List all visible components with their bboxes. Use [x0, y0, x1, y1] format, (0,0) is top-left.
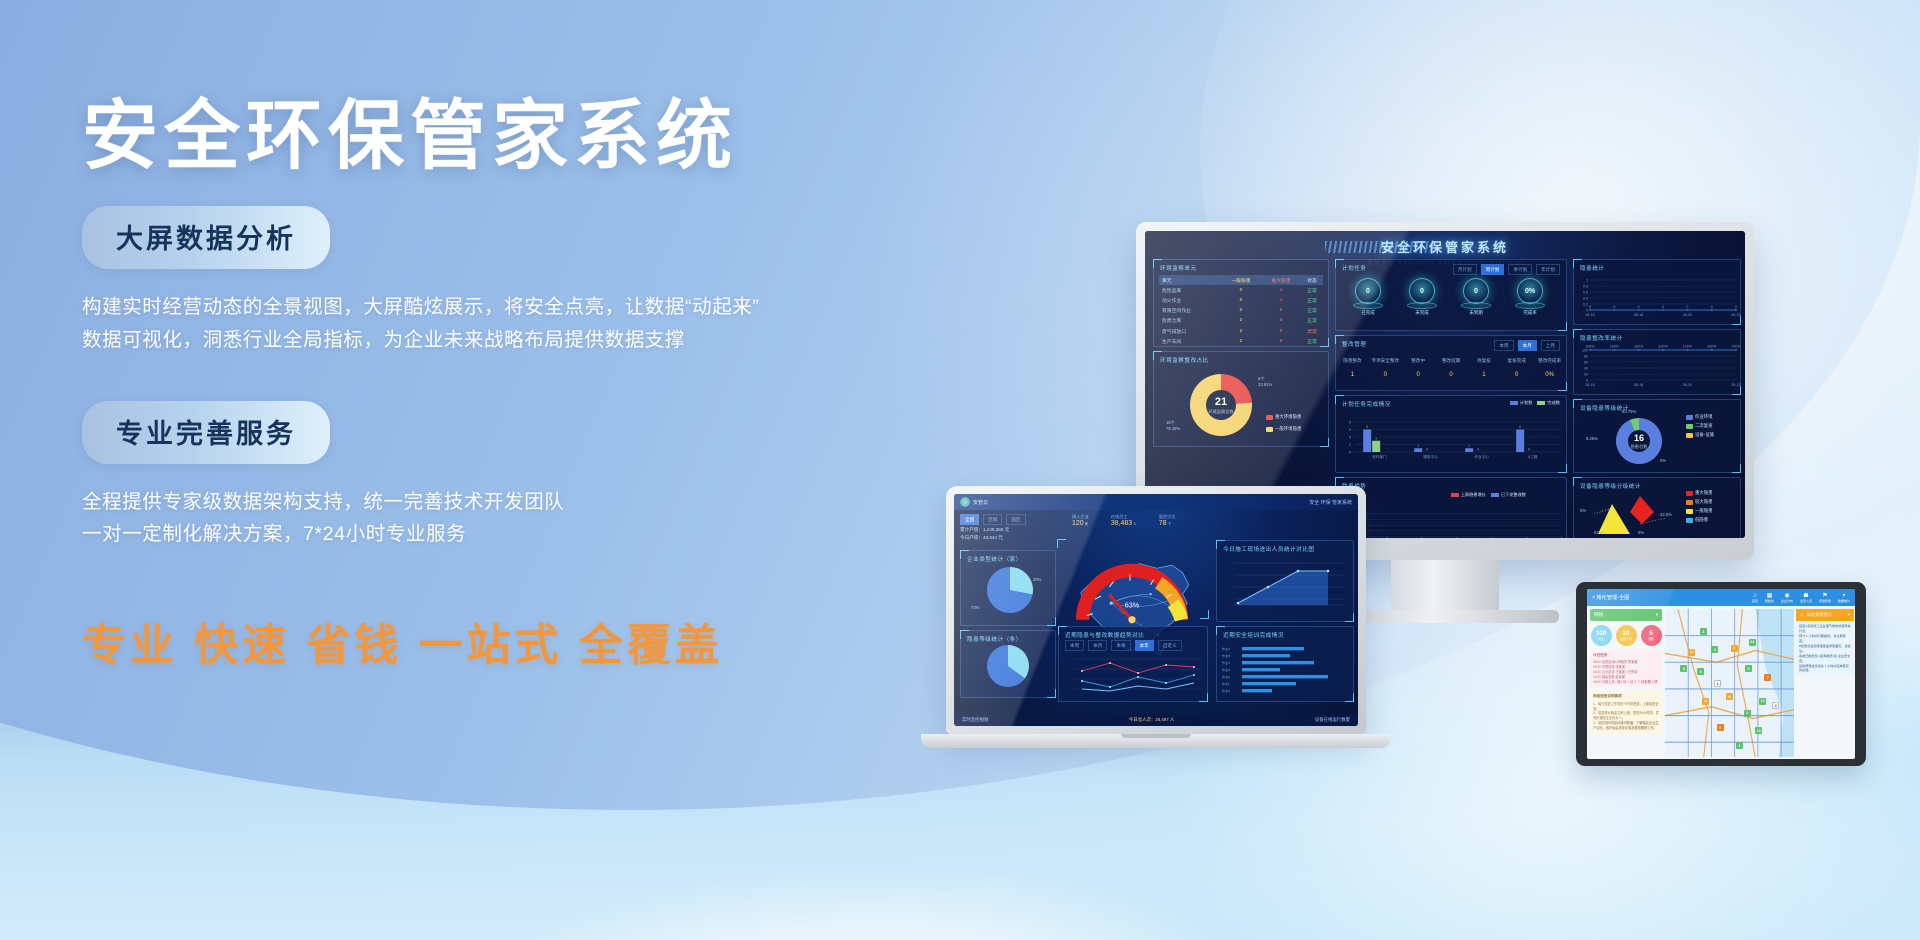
- pct-recheck: 6.25%: [1586, 436, 1598, 441]
- nav-label: 巡查人员: [1800, 600, 1812, 603]
- card-lines: 1、每日巡查工作须在十时前完成，上报巡查记录；2、发现重大隐患立即上报，须在24…: [1593, 702, 1659, 731]
- pct-work-env: 93.75%: [1622, 409, 1636, 414]
- legend-completed: 完成数: [1537, 400, 1560, 406]
- panel-environment-units: 环境监察单元 单元 一般隐患 重大隐患 状态 危险品库 0 1 正常动火作业 0…: [1153, 259, 1329, 347]
- grid-marker[interactable]: 1: [1736, 742, 1743, 749]
- indicator-base: [1515, 302, 1545, 309]
- cell-major: 0: [1261, 316, 1301, 326]
- indicator-label: 完成率: [1508, 310, 1552, 316]
- footer-right: 设备在线运行数量: [1315, 717, 1350, 723]
- grid-marker[interactable]: 2: [1744, 710, 1751, 717]
- text-line: 预计 1 小时内可能超标，请立即核查；: [1799, 634, 1851, 644]
- laptop-panel-training: 近期安全培训完成情况 作业A作业B作业C: [1216, 626, 1354, 702]
- legend-minor-hazard: 一般环境隐患: [1266, 426, 1301, 432]
- cell-minor: 0: [1221, 295, 1261, 305]
- legend-issued: 已下发整改数: [1491, 492, 1526, 498]
- cell-unit: 废气排放口: [1159, 326, 1221, 336]
- grid-marker[interactable]: 12: [1726, 693, 1733, 700]
- cell-minor: 0: [1221, 285, 1261, 295]
- alert-icon[interactable]: ⚑风险预警: [1819, 593, 1831, 603]
- text-line: 园区A东侧化工企业废气排放浓度异常升高，: [1799, 624, 1851, 634]
- panel-rectify-management: 整改管理 本周本月上月 隐患整改专项安全整改整改中整改延期待复核复核完成整改完成…: [1335, 335, 1567, 391]
- svg-text:6: 6: [1349, 428, 1351, 432]
- svg-text:1: 1: [1586, 278, 1588, 282]
- svg-text:0.2: 0.2: [1583, 302, 1588, 306]
- donut-chart-rectification: 21 环境监察总数: [1190, 374, 1252, 436]
- legend-低隐患: 低隐患: [1686, 517, 1708, 523]
- bubble-label: 企业: [1598, 637, 1604, 641]
- panel-task-completion-chart: 计划任务完成情况 计划数 完成数 0246863安环部门10服务中心10作业中心…: [1335, 395, 1567, 473]
- bubble-value: 10: [1622, 630, 1629, 637]
- panel-planned-tasks: 计划任务 月计划周计划季计划年计划 0 已完成0 未完成0 未到期0% 完成率: [1335, 259, 1567, 331]
- svg-text:3: 3: [1375, 436, 1377, 440]
- svg-text:2: 2: [1349, 443, 1351, 447]
- indicator-value: 0: [1463, 278, 1489, 304]
- laptop-base: [921, 734, 1391, 748]
- task-indicator-未到期: 0 未到期: [1454, 278, 1498, 316]
- donut-center: 21 环境监察总数: [1206, 390, 1236, 420]
- rectify-col-5: 复核完成: [1500, 358, 1533, 364]
- rectify-col-2: 整改中: [1402, 358, 1435, 364]
- donut-center-label: 环境监察总数: [1208, 409, 1233, 415]
- donut-center-value: 21: [1215, 396, 1227, 408]
- svg-text:0: 0: [1711, 305, 1713, 309]
- donut-chart-device: 16 隐患总数: [1616, 418, 1662, 464]
- stat-value: 78 个: [1159, 520, 1176, 527]
- svg-text:100%: 100%: [1658, 345, 1668, 349]
- panel-title: 环境监察整改占比: [1154, 352, 1328, 364]
- tab-本季[interactable]: 本季: [1111, 640, 1130, 651]
- bubble-label: 巡查人员: [1620, 637, 1631, 641]
- svg-text:8: 8: [1349, 421, 1351, 425]
- svg-text:A工程: A工程: [1528, 454, 1538, 459]
- text-line: 系统已推送至 A区网格员 和 企业安全员；: [1799, 654, 1851, 664]
- tablet-header: × 格化管理-全图 ⌂首页▦网格化◉企业分布☗巡查人员⚑风险预警◓数据统计: [1587, 589, 1855, 606]
- dashboard-title: 安全环保管家系统: [1145, 237, 1745, 256]
- donut-center-value: 16: [1634, 433, 1644, 443]
- pct-level-major: 32.6%: [1660, 512, 1672, 517]
- panel-title: 环境监察单元: [1154, 260, 1328, 272]
- svg-text:05-16: 05-16: [1585, 383, 1594, 387]
- svg-text:0: 0: [1491, 537, 1493, 538]
- table-row: 有限空间作业 0 2 正常: [1159, 306, 1323, 316]
- svg-text:05-22: 05-22: [1731, 313, 1740, 317]
- svg-text:80: 80: [1584, 354, 1588, 358]
- legend-设备-设施: 设备-设施: [1686, 432, 1714, 438]
- text-line: 3、值班期间须保持通讯畅通，了解辖区企业生产动态，做好隐患排查记录及整改跟踪工作…: [1593, 721, 1659, 731]
- cell-unit: 危险品库: [1159, 285, 1221, 295]
- laptop-topbar: 安管云 安全 环保 管家系统: [954, 494, 1358, 510]
- card-lines: 08:00 巡查区域A 网格员 李某某09:30 专项检查 张某某10:30 企…: [1593, 660, 1659, 684]
- col-minor: 一般隐患: [1221, 275, 1261, 285]
- tab-本周[interactable]: 本周: [1065, 640, 1084, 651]
- alert-lines: 园区A东侧化工企业废气排放浓度异常升高，预计 1 小时内可能超标，请立即核查；B…: [1796, 621, 1854, 676]
- location-icon[interactable]: ◉企业分布: [1781, 593, 1793, 603]
- rectify-col-1: 专项安全整改: [1369, 358, 1402, 364]
- tab-区域[interactable]: 区域: [983, 514, 1002, 525]
- donut-pct-minor: 16个 76.19%: [1166, 420, 1180, 431]
- cell-unit: 动火作业: [1159, 295, 1221, 305]
- task-indicator-已完成: 0 已完成: [1346, 278, 1390, 316]
- svg-text:100%: 100%: [1707, 345, 1717, 349]
- svg-text:100%: 100%: [1683, 345, 1693, 349]
- grid-select[interactable]: 网格 ▾: [1590, 609, 1662, 621]
- grid-marker[interactable]: 10: [1755, 727, 1762, 734]
- svg-text:0: 0: [1561, 537, 1563, 538]
- cell-major: 0: [1261, 336, 1301, 346]
- svg-text:60: 60: [1584, 360, 1588, 364]
- trend-legend: 上周隐患增长 已下发整改数: [1451, 492, 1526, 498]
- svg-text:作业B: 作业B: [1222, 653, 1230, 658]
- svg-text:0.4: 0.4: [1583, 296, 1588, 300]
- indicator-value: 0: [1409, 278, 1435, 304]
- tab-本月[interactable]: 本月: [1518, 340, 1537, 351]
- laptop-trend-tabs[interactable]: 本周本月本季本年自定义: [1065, 640, 1182, 651]
- text-line: 1、每日巡查工作须在十时前完成，上报巡查记录；: [1593, 702, 1659, 712]
- kpi-total: 累计产值：1,248,366 元: [960, 526, 1009, 534]
- panel-device-hazard-level: 设备隐患等级统计 16 隐患总数 93.75% 6.25% 0% 作业环境二次复…: [1573, 399, 1741, 473]
- stat-value: 38,483 人: [1111, 520, 1137, 527]
- stat-bubble-企业: 100企业: [1591, 625, 1612, 646]
- legend-major-hazard: 重大环境隐患: [1266, 414, 1301, 420]
- tab-本年[interactable]: 本年: [1135, 640, 1154, 651]
- grid-marker[interactable]: 3: [1700, 628, 1707, 635]
- laptop-mockup: 安管云 安全 环保 管家系统 全国区域园区 累计产值：1,248,366 元 今…: [946, 486, 1366, 748]
- rectify-col-6: 整改完成率: [1533, 358, 1566, 364]
- panel-title: 设备隐患等级分级统计: [1574, 478, 1740, 490]
- rectify-col-3: 整改延期: [1435, 358, 1468, 364]
- task-period-tabs[interactable]: 月计划周计划季计划年计划: [1453, 264, 1560, 275]
- tab-本月[interactable]: 本月: [1088, 640, 1107, 651]
- grid-map[interactable]: 112814361957121113428101: [1665, 609, 1794, 757]
- rectify-val-0: 1: [1336, 372, 1369, 378]
- laptop-kpi-text: 累计产值：1,248,366 元 今日产值：48,844 元: [960, 526, 1009, 543]
- svg-text:0: 0: [1735, 305, 1737, 309]
- laptop-panel-trend: 近期隐患与整改数据趋势对比 本周本月本季本年自定义: [1058, 626, 1208, 702]
- svg-text:05-20: 05-20: [1683, 383, 1692, 387]
- svg-text:1: 1: [1417, 444, 1419, 448]
- indicator-base: [1461, 302, 1491, 309]
- svg-text:服务中心: 服务中心: [1423, 454, 1438, 459]
- legend-一般隐患: 一般隐患: [1686, 508, 1713, 514]
- svg-text:安环部门: 安环部门: [1372, 454, 1387, 459]
- multi-line-chart: [1062, 653, 1206, 697]
- stat-bubble-预警: 5预警: [1641, 625, 1662, 646]
- panel-rectify-rate: 隐患整改率统计 020406080100100%100%100%100%100%…: [1573, 329, 1741, 395]
- monitor-stand: [1391, 560, 1499, 612]
- duty-notes-card: 网格值班说明事项 1、每日巡查工作须在十时前完成，上报巡查记录；2、发现重大隐患…: [1590, 691, 1662, 733]
- grid-marker[interactable]: 9: [1680, 665, 1687, 672]
- hazard-trend-chart: 00.20.40.60.810000000000000005-1605-1805…: [1336, 506, 1568, 538]
- rectify-val-4: 1: [1467, 372, 1500, 378]
- bubble-label: 预警: [1648, 637, 1654, 641]
- task-indicator-完成率: 0% 完成率: [1508, 278, 1552, 316]
- task-bar-chart: 0246863安环部门10服务中心10作业中心60A工程: [1336, 408, 1568, 466]
- pct-level-low: 0%: [1580, 508, 1586, 513]
- grid-marker[interactable]: 7: [1764, 674, 1771, 681]
- panel-title: 近期隐患与整改数据趋势对比: [1059, 627, 1207, 639]
- panel-hazard-stat: 隐患统计 00.20.40.60.81000000005-1605-1805-2…: [1573, 259, 1741, 325]
- laptop-brand: 安管云: [973, 499, 988, 506]
- laptop-notch: [1121, 734, 1191, 738]
- table-row: 危废仓库 2 0 正常: [1159, 316, 1323, 326]
- panel-title: 近期安全培训完成情况: [1217, 627, 1353, 639]
- svg-text:100%: 100%: [1634, 345, 1644, 349]
- chart-icon[interactable]: ◓数据统计: [1838, 593, 1850, 603]
- rectify-rate-chart: 020406080100100%100%100%100%100%100%100%…: [1574, 342, 1742, 392]
- panel-hazard-level-pie: 设备隐患等级分级统计 0% 67.3% 0% 32.6% 重大隐患较大隐患一般隐…: [1573, 477, 1741, 538]
- table-row: 生产车间 2 0 正常: [1159, 336, 1323, 346]
- grid-marker[interactable]: 13: [1759, 698, 1766, 705]
- cell-unit: 有限空间作业: [1159, 306, 1221, 316]
- svg-text:0: 0: [1426, 448, 1428, 452]
- home-icon[interactable]: ⌂首页: [1752, 593, 1758, 603]
- bar-chart-legend: 计划数 完成数: [1510, 400, 1560, 406]
- stat-bubbles: 100企业10巡查人员5预警: [1590, 625, 1662, 646]
- grid-marker[interactable]: 8: [1731, 645, 1738, 652]
- tab-季计划[interactable]: 季计划: [1508, 264, 1532, 275]
- indicator-label: 未到期: [1454, 310, 1498, 316]
- laptop-lid: 安管云 安全 环保 管家系统 全国区域园区 累计产值：1,248,366 元 今…: [946, 486, 1366, 734]
- table-row: 危险品库 0 1 正常: [1159, 285, 1323, 295]
- alert-panel-header: ⚠ 风险预警提示 ▾: [1796, 609, 1854, 621]
- chevron-down-icon: ▾: [1656, 612, 1658, 618]
- tab-全国[interactable]: 全国: [960, 514, 979, 525]
- table-row: 废气排放口 2 0 异常: [1159, 326, 1323, 336]
- table-row: 动火作业 0 1 正常: [1159, 295, 1323, 305]
- pct-equipment: 0%: [1660, 458, 1666, 463]
- svg-text:0: 0: [1477, 448, 1479, 452]
- tab-年计划[interactable]: 年计划: [1536, 264, 1560, 275]
- cell-status: 正常: [1301, 306, 1323, 316]
- cell-major: 0: [1261, 326, 1301, 336]
- rectify-val-5: 0: [1500, 372, 1533, 378]
- svg-text:100%: 100%: [1610, 345, 1620, 349]
- nav-label: 企业分布: [1781, 600, 1793, 603]
- laptop-stat-group: 接入企业 120 家在线员工 38,483 人监控点位 78 个: [1072, 514, 1176, 527]
- units-table: 单元 一般隐患 重大隐患 状态 危险品库 0 1 正常动火作业 0 1 正常有限…: [1159, 275, 1323, 346]
- grid-marker[interactable]: 8: [1717, 724, 1724, 731]
- svg-text:作业G: 作业G: [1222, 688, 1231, 693]
- legend-作业环境: 作业环境: [1686, 414, 1713, 420]
- svg-text:0: 0: [1528, 448, 1530, 452]
- kpi-today: 今日产值：48,844 元: [960, 534, 1009, 542]
- svg-text:作业D: 作业D: [1222, 667, 1231, 672]
- svg-text:0: 0: [1686, 305, 1688, 309]
- svg-text:40: 40: [1584, 366, 1588, 370]
- text-line: 16:00 日报上传 / 格1 待 一区 2 个 待处理 2 项: [1593, 680, 1659, 685]
- bubble-value: 100: [1596, 630, 1607, 637]
- alert-icon: ⚠: [1800, 612, 1804, 618]
- laptop-panel-enterprise-type: 企业类型统计（家） 28% 72%: [960, 550, 1056, 626]
- svg-text:0: 0: [1586, 378, 1588, 382]
- donut-center: 16 隐患总数: [1628, 430, 1650, 452]
- stat-bubble-巡查人员: 10巡查人员: [1616, 625, 1637, 646]
- grid-marker[interactable]: 11: [1688, 649, 1695, 656]
- laptop-panel-area: 今日施工现场进出人员统计对比图: [1216, 540, 1354, 622]
- legend-重大隐患: 重大隐患: [1686, 490, 1713, 496]
- col-status: 状态: [1301, 275, 1323, 285]
- rectify-col-0: 隐患整改: [1336, 358, 1369, 364]
- panel-title: 设备隐患等级统计: [1574, 400, 1740, 412]
- laptop-scope-tabs[interactable]: 全国区域园区: [960, 514, 1026, 525]
- cell-unit: 生产车间: [1159, 336, 1221, 346]
- rectify-val-6: 0%: [1533, 372, 1566, 378]
- svg-text:0.6: 0.6: [1583, 290, 1588, 294]
- laptop-pie-2: [987, 645, 1029, 687]
- donut-pct-major: 5个 23.81%: [1258, 376, 1272, 387]
- nav-label: 首页: [1752, 600, 1758, 603]
- svg-text:0: 0: [1638, 305, 1640, 309]
- pct-level-big: 0%: [1638, 530, 1644, 535]
- svg-text:05-18: 05-18: [1634, 313, 1643, 317]
- panel-title: 隐患等级统计（条）: [961, 631, 1055, 643]
- svg-text:作业F: 作业F: [1222, 681, 1230, 686]
- svg-text:0: 0: [1456, 537, 1458, 538]
- device-mockups: 安全环保管家系统 智慧安全 Real-time Data Display Pla…: [0, 0, 1920, 940]
- cell-minor: 2: [1221, 316, 1261, 326]
- nav-label: 网格化: [1765, 600, 1774, 603]
- legend-较大隐患: 较大隐患: [1686, 499, 1713, 505]
- laptop-pie-1: [987, 567, 1033, 613]
- legend-二次复查: 二次复查: [1686, 423, 1713, 429]
- panel-rectification-ratio: 环境监察整改占比 21 环境监察总数 5个 23.81% 16: [1153, 351, 1329, 447]
- svg-text:作业E: 作业E: [1222, 674, 1230, 679]
- laptop-stat: 监控点位 78 个: [1159, 514, 1176, 527]
- card-title: 网格值班说明事项: [1593, 694, 1659, 699]
- chevron-down-icon: ▾: [1848, 612, 1850, 618]
- cell-major: 2: [1261, 306, 1301, 316]
- svg-text:20: 20: [1584, 372, 1588, 376]
- svg-text:0: 0: [1421, 537, 1423, 538]
- pct-level-general: 67.3%: [1594, 530, 1606, 535]
- svg-text:100%: 100%: [1585, 345, 1595, 349]
- rectify-values: 1000100%: [1336, 370, 1566, 378]
- grid-marker[interactable]: 6: [1697, 668, 1704, 675]
- map-grid-lines: [1665, 609, 1794, 757]
- svg-text:05-20: 05-20: [1683, 313, 1692, 317]
- stat-value: 120 家: [1072, 520, 1089, 527]
- cell-unit: 危废仓库: [1159, 316, 1221, 326]
- panel-title: 隐患统计: [1574, 260, 1740, 272]
- rectify-columns: 隐患整改专项安全整改整改中整改延期待复核复核完成整改完成率: [1336, 358, 1566, 364]
- laptop-stat: 接入企业 120 家: [1072, 514, 1089, 527]
- laptop-nav-right: 安全 环保 管家系统: [1309, 499, 1352, 506]
- tab-园区[interactable]: 园区: [1006, 514, 1025, 525]
- cell-major: 1: [1261, 295, 1301, 305]
- area-chart: [1220, 555, 1350, 613]
- tablet-screen: × 格化管理-全图 ⌂首页▦网格化◉企业分布☗巡查人员⚑风险预警◓数据统计 网格…: [1587, 589, 1855, 759]
- tablet-title: × 格化管理-全图: [1592, 594, 1629, 601]
- panel-title: 隐患整改率统计: [1574, 330, 1740, 342]
- panel-hazard-trend: 隐患趋势 上周隐患增长 已下发整改数 00.20.40.60.810000000…: [1335, 477, 1567, 538]
- footer-center: 今日总人次：25,487 人: [1129, 717, 1174, 723]
- rectify-col-4: 待复核: [1467, 358, 1500, 364]
- svg-text:05-16: 05-16: [1585, 313, 1594, 317]
- cell-status: 正常: [1301, 316, 1323, 326]
- grid-marker[interactable]: 5: [1745, 665, 1752, 672]
- hazard-stat-chart: 00.20.40.60.81000000005-1605-1805-2005-2…: [1574, 272, 1742, 322]
- svg-text:100: 100: [1582, 348, 1588, 352]
- table-header-row: 单元 一般隐患 重大隐患 状态: [1159, 275, 1323, 285]
- card-title: 今日任务: [1593, 653, 1659, 658]
- rectify-val-1: 0: [1369, 372, 1402, 378]
- task-indicator-未完成: 0 未完成: [1400, 278, 1444, 316]
- person-icon[interactable]: ☗巡查人员: [1800, 593, 1812, 603]
- grid-marker[interactable]: 11: [1702, 698, 1709, 705]
- legend-planned: 计划数: [1510, 400, 1533, 406]
- cell-minor: 2: [1221, 326, 1261, 336]
- grid-marker[interactable]: 2: [1711, 646, 1718, 653]
- rectify-val-3: 0: [1435, 372, 1468, 378]
- tab-周计划[interactable]: 周计划: [1481, 264, 1505, 275]
- rectify-val-2: 0: [1402, 372, 1435, 378]
- svg-text:05-22: 05-22: [1731, 383, 1740, 387]
- indicator-base: [1353, 302, 1383, 309]
- text-line: 2、发现重大隐患立即上报，须在24小时内、并同步通知企业负责人；: [1593, 711, 1659, 721]
- laptop-footer: 实时监控视频 今日总人次：25,487 人 设备在线运行数量: [954, 714, 1358, 726]
- gauge-value: 63%: [1125, 600, 1140, 609]
- grid-marker[interactable]: 1: [1714, 680, 1721, 687]
- svg-text:0: 0: [1586, 308, 1588, 312]
- grid-marker[interactable]: 14: [1749, 639, 1756, 646]
- cell-status: 正常: [1301, 295, 1323, 305]
- svg-text:4: 4: [1349, 436, 1351, 440]
- rectify-period-tabs[interactable]: 本周本月上月: [1494, 340, 1560, 351]
- nav-label: 风险预警: [1819, 600, 1831, 603]
- svg-text:05-18: 05-18: [1634, 383, 1643, 387]
- text-line: 最新预警信息请在 7 小时内完成核实并反馈。: [1799, 664, 1851, 674]
- svg-text:0.8: 0.8: [1583, 284, 1588, 288]
- svg-text:作业中心: 作业中心: [1474, 454, 1489, 459]
- safety-gauge: 63%: [1070, 556, 1194, 630]
- tab-本周[interactable]: 本周: [1494, 340, 1513, 351]
- tablet-left-column: 网格 ▾ 100企业10巡查人员5预警 今日任务 08:00 巡查区域A 网格员…: [1590, 609, 1662, 734]
- tab-自定义[interactable]: 自定义: [1158, 640, 1182, 651]
- svg-text:6: 6: [1519, 425, 1521, 429]
- today-task-card: 今日任务 08:00 巡查区域A 网格员 李某某09:30 专项检查 张某某10…: [1590, 650, 1662, 687]
- tab-上月[interactable]: 上月: [1541, 340, 1560, 351]
- svg-text:0: 0: [1613, 305, 1615, 309]
- panel-title: 今日施工现场进出人员统计对比图: [1217, 541, 1353, 553]
- svg-text:0: 0: [1349, 451, 1351, 455]
- panel-title: 隐患趋势: [1336, 478, 1566, 490]
- svg-text:1: 1: [1468, 444, 1470, 448]
- indicator-value: 0%: [1517, 278, 1543, 304]
- svg-text:100%: 100%: [1731, 345, 1741, 349]
- tab-月计划[interactable]: 月计划: [1453, 264, 1477, 275]
- tablet-body: × 格化管理-全图 ⌂首页▦网格化◉企业分布☗巡查人员⚑风险预警◓数据统计 网格…: [1576, 582, 1866, 766]
- cell-minor: 0: [1221, 306, 1261, 316]
- col-major: 重大隐患: [1261, 275, 1301, 285]
- laptop-stat: 在线员工 38,483 人: [1111, 514, 1137, 527]
- tablet-nav[interactable]: ⌂首页▦网格化◉企业分布☗巡查人员⚑风险预警◓数据统计: [1752, 593, 1850, 603]
- alert-panel: ⚠ 风险预警提示 ▾ 园区A东侧化工企业废气排放浓度异常升高，预计 1 小时内可…: [1796, 609, 1854, 676]
- donut-center-label: 隐患总数: [1631, 444, 1648, 450]
- svg-text:0: 0: [1386, 537, 1388, 538]
- cell-major: 1: [1261, 285, 1301, 295]
- svg-text:0: 0: [1662, 305, 1664, 309]
- tablet-mockup: × 格化管理-全图 ⌂首页▦网格化◉企业分布☗巡查人员⚑风险预警◓数据统计 网格…: [1576, 582, 1866, 766]
- bubble-value: 5: [1649, 630, 1653, 637]
- grid-marker[interactable]: 4: [1772, 702, 1779, 709]
- svg-text:0: 0: [1589, 305, 1591, 309]
- cell-status: 正常: [1301, 285, 1323, 295]
- laptop-screen: 安管云 安全 环保 管家系统 全国区域园区 累计产值：1,248,366 元 今…: [954, 494, 1358, 726]
- cell-minor: 2: [1221, 336, 1261, 346]
- cell-status: 异常: [1301, 326, 1323, 336]
- grid-icon[interactable]: ▦网格化: [1765, 593, 1774, 603]
